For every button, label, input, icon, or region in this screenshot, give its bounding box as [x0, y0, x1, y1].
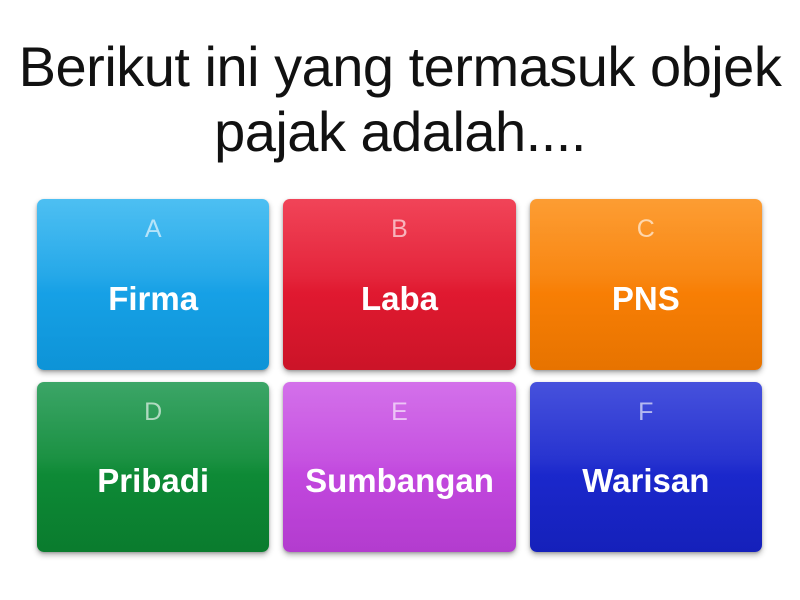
answer-card-e[interactable]: E Sumbangan: [283, 382, 515, 553]
answer-card-a[interactable]: A Firma: [37, 199, 269, 370]
answer-card-f[interactable]: F Warisan: [530, 382, 762, 553]
answer-card-c[interactable]: C PNS: [530, 199, 762, 370]
question-text: Berikut ini yang termasuk objek pajak ad…: [18, 35, 782, 165]
answer-card-b[interactable]: B Laba: [283, 199, 515, 370]
question-area: Berikut ini yang termasuk objek pajak ad…: [0, 0, 800, 190]
answer-label-e: Sumbangan: [283, 411, 515, 553]
answer-label-b: Laba: [283, 228, 515, 370]
quiz-screen: Berikut ini yang termasuk objek pajak ad…: [0, 0, 800, 600]
answer-card-d[interactable]: D Pribadi: [37, 382, 269, 553]
answer-options-grid: A Firma B Laba C PNS D Pribadi E Sumbang…: [0, 190, 800, 600]
answer-label-d: Pribadi: [37, 411, 269, 553]
answer-label-a: Firma: [37, 228, 269, 370]
answer-label-c: PNS: [530, 228, 762, 370]
answer-label-f: Warisan: [530, 411, 762, 553]
